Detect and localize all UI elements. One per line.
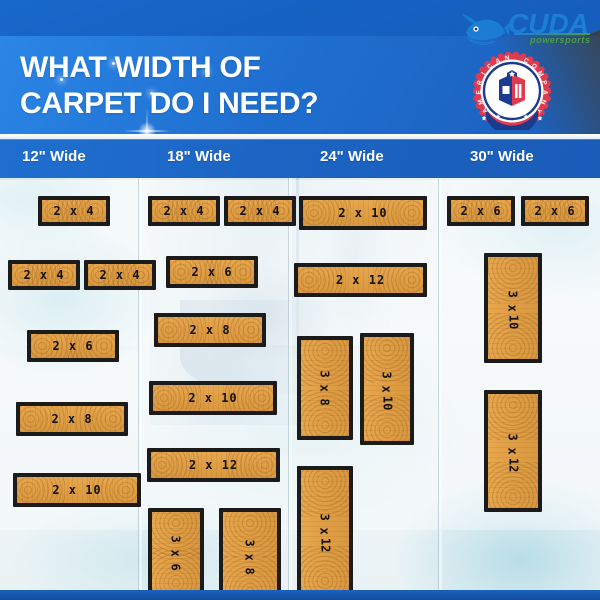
badge-arc-letter: P — [540, 80, 548, 86]
bottom-accent-bar — [0, 590, 600, 600]
board-wood-face — [17, 477, 137, 503]
board-wood-face — [298, 267, 423, 293]
board-wood-face — [152, 512, 200, 594]
lumber-board: 2 x 8 — [154, 313, 266, 347]
board-wood-face — [525, 200, 585, 222]
lumber-board: 2 x 6 — [521, 196, 589, 226]
board-wood-face — [88, 264, 152, 286]
lumber-board: 2 x 12 — [294, 263, 427, 297]
column-header-band: 12" Wide 18" Wide 24" Wide 30" Wide — [0, 139, 600, 178]
badge-arc-letter: E — [475, 90, 482, 94]
badge-arc-letter: N — [504, 55, 509, 63]
board-wood-face — [170, 260, 254, 284]
column-header-24in: 24" Wide — [320, 148, 384, 165]
badge-arc-letter: N — [539, 99, 547, 106]
badge-arc-letter: C — [486, 62, 494, 70]
badge-arc-letter: A — [494, 57, 501, 65]
column-divider-3 — [438, 178, 439, 590]
board-wood-face — [303, 200, 423, 226]
lumber-board: 3x8 — [219, 508, 281, 600]
board-wood-face — [228, 200, 292, 222]
board-wood-face — [42, 200, 106, 222]
board-wood-face — [488, 394, 538, 508]
column-divider-1 — [138, 178, 139, 590]
lumber-board: 3x6 — [148, 508, 204, 598]
lumber-board: 3x10 — [360, 333, 414, 445]
barracuda-fish-icon — [460, 8, 510, 48]
board-wood-face — [488, 257, 538, 359]
page-header: WHAT WIDTH OF CARPET DO I NEED? CUDA — [0, 0, 600, 139]
lumber-board: 2 x 10 — [13, 473, 141, 507]
lumber-board: 2 x 4 — [84, 260, 156, 290]
cuda-tagline: powersports — [530, 35, 591, 45]
page-title-line-2: CARPET DO I NEED? — [20, 86, 318, 122]
page-title-line-1: WHAT WIDTH OF — [20, 50, 318, 86]
board-wood-face — [12, 264, 76, 286]
board-wood-face — [301, 340, 349, 436]
board-wood-face — [158, 317, 262, 343]
badge-arc-letter: M — [536, 70, 545, 78]
board-wood-face — [20, 406, 124, 432]
board-wood-face — [301, 470, 349, 592]
badge-arc-letter: O — [530, 62, 538, 70]
badge-ring-text: AMERICANCOMPANY — [473, 52, 551, 130]
badge-arc-letter: A — [481, 107, 489, 115]
board-wood-face — [151, 452, 276, 478]
badge-arc-letter: I — [480, 71, 487, 76]
column-header-12in: 12" Wide — [22, 148, 86, 165]
column-header-18in: 18" Wide — [167, 148, 231, 165]
board-wood-face — [451, 200, 511, 222]
page-title: WHAT WIDTH OF CARPET DO I NEED? — [20, 50, 318, 121]
lumber-board: 2 x 4 — [38, 196, 110, 226]
board-wood-face — [31, 334, 115, 358]
badge-arc-letter: C — [523, 57, 530, 65]
lumber-board: 2 x 10 — [149, 381, 277, 415]
lumber-board: 2 x 8 — [16, 402, 128, 436]
american-company-badge[interactable]: AMERICANCOMPANY — [473, 52, 551, 130]
lumber-board: 2 x 6 — [447, 196, 515, 226]
lumber-board: 2 x 12 — [147, 448, 280, 482]
badge-arc-letter: Y — [535, 107, 543, 114]
lumber-board: 3x8 — [297, 336, 353, 440]
lumber-board: 3x12 — [484, 390, 542, 512]
badge-arc-letter: A — [541, 90, 548, 95]
lumber-board: 2 x 6 — [166, 256, 258, 288]
cuda-powersports-logo[interactable]: CUDA powersports — [460, 6, 595, 52]
lumber-board: 2 x 10 — [299, 196, 427, 230]
columns-area: 2 x 42 x 42 x 42 x 62 x 82 x 102 x 42 x … — [0, 178, 600, 590]
lumber-board: 2 x 4 — [224, 196, 296, 226]
lumber-board: 2 x 4 — [8, 260, 80, 290]
badge-arc-letter: M — [477, 98, 485, 105]
lumber-board: 3x12 — [297, 466, 353, 596]
infographic-root: 2 x 42 x 42 x 42 x 62 x 82 x 102 x 42 x … — [0, 0, 600, 600]
column-header-30in: 30" Wide — [470, 148, 534, 165]
board-wood-face — [152, 200, 216, 222]
column-divider-2 — [288, 178, 289, 590]
lumber-board: 3x10 — [484, 253, 542, 363]
lumber-board: 2 x 4 — [148, 196, 220, 226]
board-wood-face — [364, 337, 410, 441]
badge-arc-letter: R — [476, 80, 484, 86]
board-wood-face — [153, 385, 273, 411]
lumber-board: 2 x 6 — [27, 330, 119, 362]
board-wood-face — [223, 512, 277, 600]
